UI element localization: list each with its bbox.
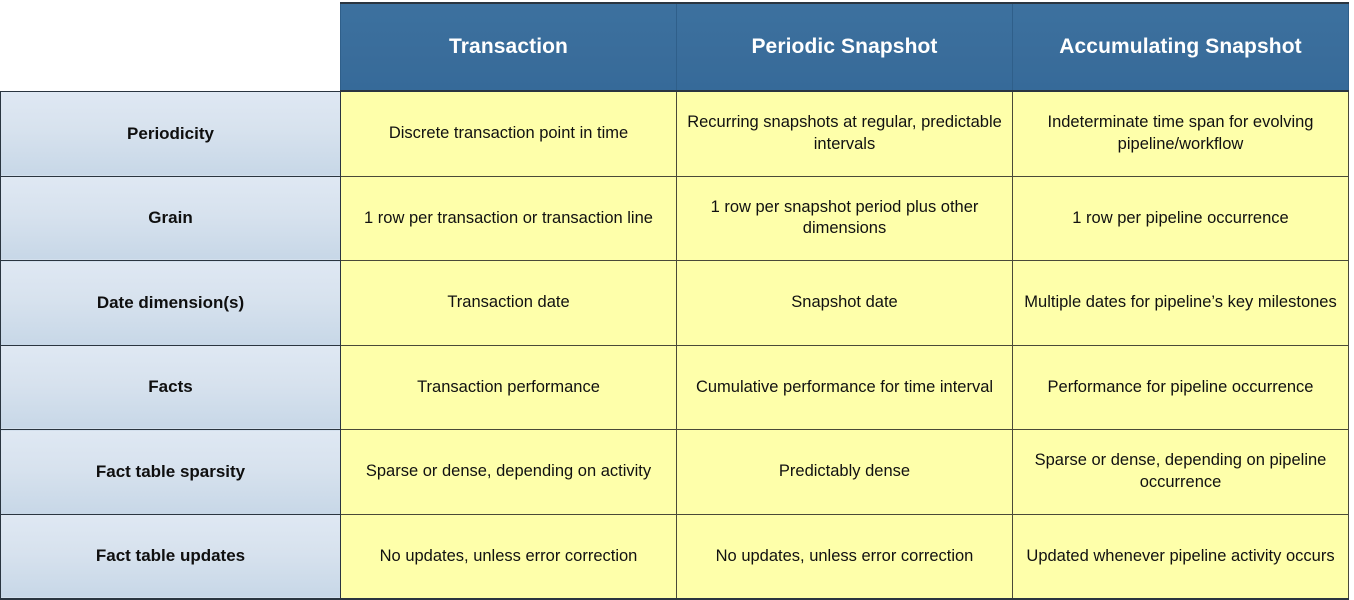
row-label-periodicity: Periodicity: [1, 91, 341, 176]
table-row: Facts Transaction performance Cumulative…: [1, 345, 1349, 430]
cell-facts-accumulating-snapshot: Performance for pipeline occurrence: [1013, 345, 1349, 430]
table-row: Fact table updates No updates, unless er…: [1, 514, 1349, 599]
cell-date-dimensions-accumulating-snapshot: Multiple dates for pipeline’s key milest…: [1013, 261, 1349, 346]
column-header-transaction: Transaction: [341, 3, 677, 91]
cell-grain-transaction: 1 row per transaction or transaction lin…: [341, 176, 677, 261]
cell-grain-accumulating-snapshot: 1 row per pipeline occurrence: [1013, 176, 1349, 261]
cell-fact-table-updates-accumulating-snapshot: Updated whenever pipeline activity occur…: [1013, 514, 1349, 599]
row-label-fact-table-updates: Fact table updates: [1, 514, 341, 599]
table-row: Periodicity Discrete transaction point i…: [1, 91, 1349, 176]
cell-periodicity-transaction: Discrete transaction point in time: [341, 91, 677, 176]
cell-periodicity-accumulating-snapshot: Indeterminate time span for evolving pip…: [1013, 91, 1349, 176]
table-corner-cell: [1, 3, 341, 91]
column-header-periodic-snapshot: Periodic Snapshot: [677, 3, 1013, 91]
column-header-accumulating-snapshot: Accumulating Snapshot: [1013, 3, 1349, 91]
cell-date-dimensions-transaction: Transaction date: [341, 261, 677, 346]
cell-facts-transaction: Transaction performance: [341, 345, 677, 430]
cell-fact-table-updates-periodic-snapshot: No updates, unless error correction: [677, 514, 1013, 599]
table-row: Grain 1 row per transaction or transacti…: [1, 176, 1349, 261]
row-label-date-dimensions: Date dimension(s): [1, 261, 341, 346]
fact-table-comparison-table: Transaction Periodic Snapshot Accumulati…: [0, 2, 1349, 600]
row-label-fact-table-sparsity: Fact table sparsity: [1, 430, 341, 515]
cell-fact-table-sparsity-transaction: Sparse or dense, depending on activity: [341, 430, 677, 515]
row-label-facts: Facts: [1, 345, 341, 430]
cell-periodicity-periodic-snapshot: Recurring snapshots at regular, predicta…: [677, 91, 1013, 176]
table-row: Date dimension(s) Transaction date Snaps…: [1, 261, 1349, 346]
table-header-row: Transaction Periodic Snapshot Accumulati…: [1, 3, 1349, 91]
cell-fact-table-sparsity-accumulating-snapshot: Sparse or dense, depending on pipeline o…: [1013, 430, 1349, 515]
cell-fact-table-sparsity-periodic-snapshot: Predictably dense: [677, 430, 1013, 515]
cell-date-dimensions-periodic-snapshot: Snapshot date: [677, 261, 1013, 346]
row-label-grain: Grain: [1, 176, 341, 261]
cell-grain-periodic-snapshot: 1 row per snapshot period plus other dim…: [677, 176, 1013, 261]
cell-fact-table-updates-transaction: No updates, unless error correction: [341, 514, 677, 599]
cell-facts-periodic-snapshot: Cumulative performance for time interval: [677, 345, 1013, 430]
table-row: Fact table sparsity Sparse or dense, dep…: [1, 430, 1349, 515]
